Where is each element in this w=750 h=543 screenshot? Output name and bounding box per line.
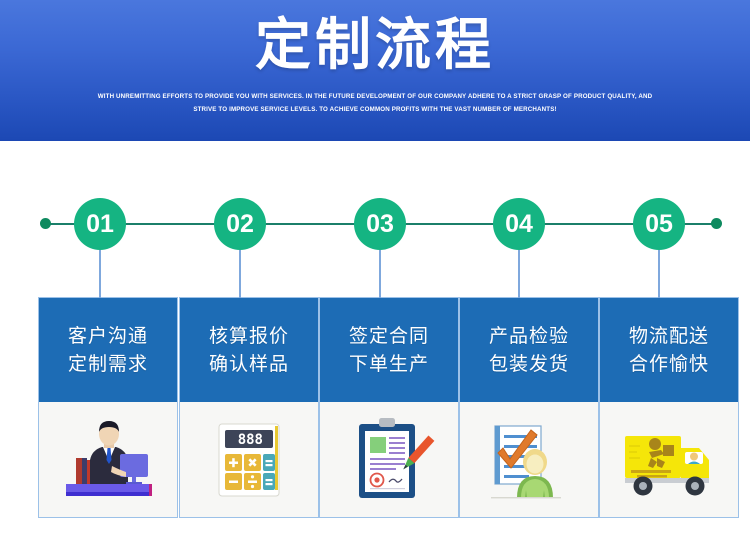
subtitle-line-2: STRIVE TO IMPROVE SERVICE LEVELS. TO ACH… <box>75 103 675 116</box>
step-card-03-body <box>320 402 458 517</box>
step-card-05-body <box>600 402 738 517</box>
step-card-05[interactable]: 物流配送 合作愉快 <box>599 297 739 518</box>
step-card-04-body <box>460 402 598 517</box>
step-card-01-title-line2: 定制需求 <box>68 351 148 378</box>
delivery-truck-icon <box>617 414 721 506</box>
step-card-02-body: 888 <box>180 402 318 517</box>
header-subtitle: WITH UNREMITTING EFFORTS TO PROVIDE YOU … <box>75 90 675 116</box>
checklist-person-icon <box>477 414 581 506</box>
step-node-01[interactable]: 01 <box>74 198 126 250</box>
step-card-01-title-line1: 客户沟通 <box>68 323 148 350</box>
step-card-05-title-line1: 物流配送 <box>629 323 709 350</box>
step-card-04-title-line1: 产品检验 <box>489 323 569 350</box>
subtitle-line-1: WITH UNREMITTING EFFORTS TO PROVIDE YOU … <box>75 90 675 103</box>
step-card-02-title-line2: 确认样品 <box>209 351 289 378</box>
step-card-02-title: 核算报价 确认样品 <box>180 298 318 402</box>
clipboard-contract-pen-icon <box>337 414 441 506</box>
step-stem-05 <box>658 250 660 298</box>
step-stem-02 <box>239 250 241 298</box>
businessman-computer-desk-icon <box>56 414 160 506</box>
step-card-03-title-line2: 下单生产 <box>349 351 429 378</box>
timeline-start-dot-icon <box>40 218 51 229</box>
step-card-02-title-line1: 核算报价 <box>209 323 289 350</box>
page-title: 定制流程 <box>0 14 750 78</box>
step-card-04-title-line2: 包装发货 <box>489 351 569 378</box>
step-card-02[interactable]: 核算报价 确认样品 888 <box>179 297 319 518</box>
step-card-05-title-line2: 合作愉快 <box>629 351 709 378</box>
step-card-04-title: 产品检验 包装发货 <box>460 298 598 402</box>
step-stem-01 <box>99 250 101 298</box>
step-card-01[interactable]: 客户沟通 定制需求 <box>38 297 178 518</box>
calculator-display-value: 888 <box>238 432 263 448</box>
step-card-04[interactable]: 产品检验 包装发货 <box>459 297 599 518</box>
step-card-05-title: 物流配送 合作愉快 <box>600 298 738 402</box>
step-card-01-body <box>39 402 177 517</box>
step-card-03-title: 签定合同 下单生产 <box>320 298 458 402</box>
step-card-03-title-line1: 签定合同 <box>349 323 429 350</box>
step-node-02[interactable]: 02 <box>214 198 266 250</box>
step-node-05[interactable]: 05 <box>633 198 685 250</box>
step-card-01-title: 客户沟通 定制需求 <box>39 298 177 402</box>
timeline-end-dot-icon <box>711 218 722 229</box>
step-stem-04 <box>518 250 520 298</box>
calculator-icon: 888 <box>197 414 301 506</box>
step-card-03[interactable]: 签定合同 下单生产 <box>319 297 459 518</box>
step-node-04[interactable]: 04 <box>493 198 545 250</box>
header-banner: 定制流程 WITH UNREMITTING EFFORTS TO PROVIDE… <box>0 0 750 141</box>
step-node-03[interactable]: 03 <box>354 198 406 250</box>
step-stem-03 <box>379 250 381 298</box>
